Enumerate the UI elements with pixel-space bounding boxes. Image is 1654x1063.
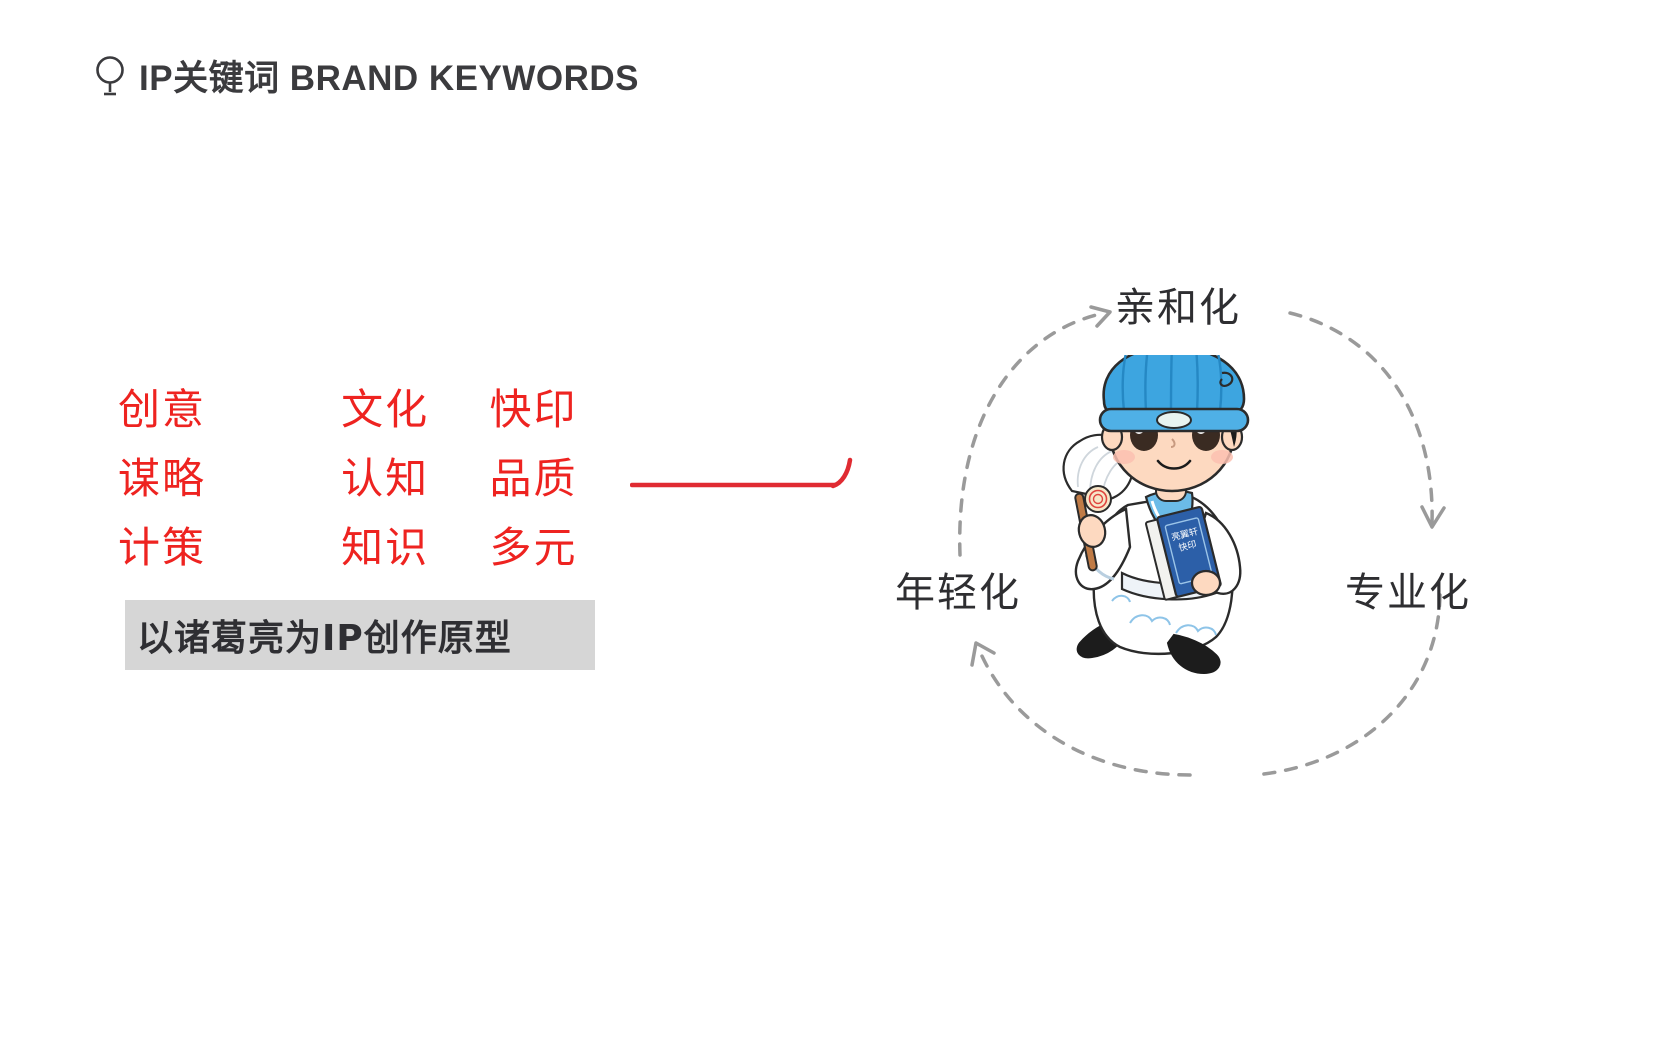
keyword-cell: 品质 bbox=[440, 445, 588, 506]
keyword-cell: 文化 bbox=[279, 376, 439, 437]
keyword-cell: 谋略 bbox=[118, 445, 279, 506]
keyword-cell: 创意 bbox=[118, 376, 279, 437]
keyword-cell: 知识 bbox=[279, 514, 439, 575]
keyword-cell: 认知 bbox=[279, 445, 439, 506]
keyword-row: 谋略 认知 品质 bbox=[118, 441, 588, 510]
keyword-row: 计策 知识 多元 bbox=[118, 510, 588, 579]
keyword-grid: 创意 文化 快印 谋略 认知 品质 计策 知识 多元 bbox=[118, 372, 588, 579]
prototype-banner: 以诸葛亮为IP创作原型 bbox=[125, 600, 595, 670]
page-title: IP关键词 BRAND KEYWORDS bbox=[139, 50, 639, 101]
keyword-cell: 计策 bbox=[118, 514, 279, 575]
keyword-cell: 多元 bbox=[440, 514, 588, 575]
page-header: IP关键词 BRAND KEYWORDS bbox=[95, 50, 639, 101]
ring-label-right: 专业化 bbox=[1345, 560, 1471, 618]
lightbulb-icon bbox=[95, 54, 125, 98]
ring-label-top: 亲和化 bbox=[1115, 275, 1241, 333]
prototype-banner-label: 以诸葛亮为IP创作原型 bbox=[137, 609, 512, 661]
keyword-row: 创意 文化 快印 bbox=[118, 372, 588, 441]
keyword-cell: 快印 bbox=[440, 376, 588, 437]
